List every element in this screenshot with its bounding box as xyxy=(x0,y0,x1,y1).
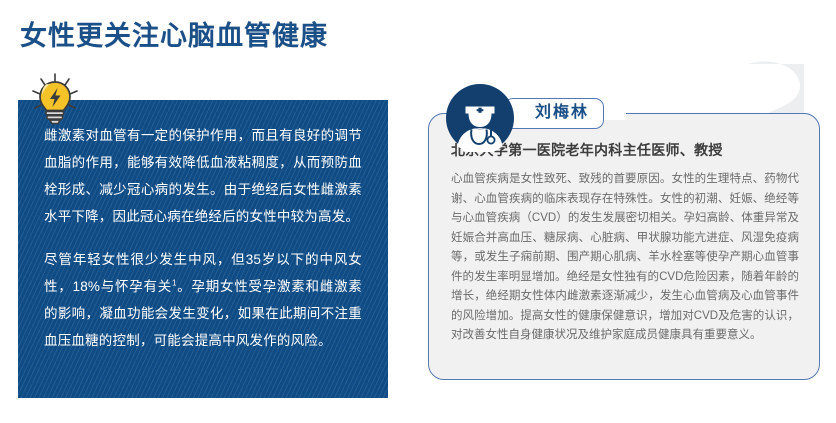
page-title: 女性更关注心脑血管健康 xyxy=(20,14,328,53)
expert-name-badge: 刘梅林 xyxy=(504,98,604,129)
expert-card: 北京大学第一医院老年内科主任医师、教授 心血管疾病是女性致死、致残的首要原因。女… xyxy=(428,113,820,380)
doctor-avatar-icon xyxy=(446,84,514,152)
info-paragraph-1: 雌激素对血管有一定的保护作用，而且有良好的调节血脂的作用，能够有效降低血液粘稠度… xyxy=(44,122,362,230)
info-panel: 雌激素对血管有一定的保护作用，而且有良好的调节血脂的作用，能够有效降低血液粘稠度… xyxy=(18,100,388,398)
expert-body-text: 心血管疾病是女性致死、致残的首要原因。女性的生理特点、药物代谢、心血管疾病的临床… xyxy=(451,170,799,346)
info-paragraph-2: 尽管年轻女性很少发生中风，但35岁以下的中风女性，18%与怀孕有关1。孕期女性受… xyxy=(44,246,362,354)
lightbulb-icon xyxy=(28,72,82,126)
